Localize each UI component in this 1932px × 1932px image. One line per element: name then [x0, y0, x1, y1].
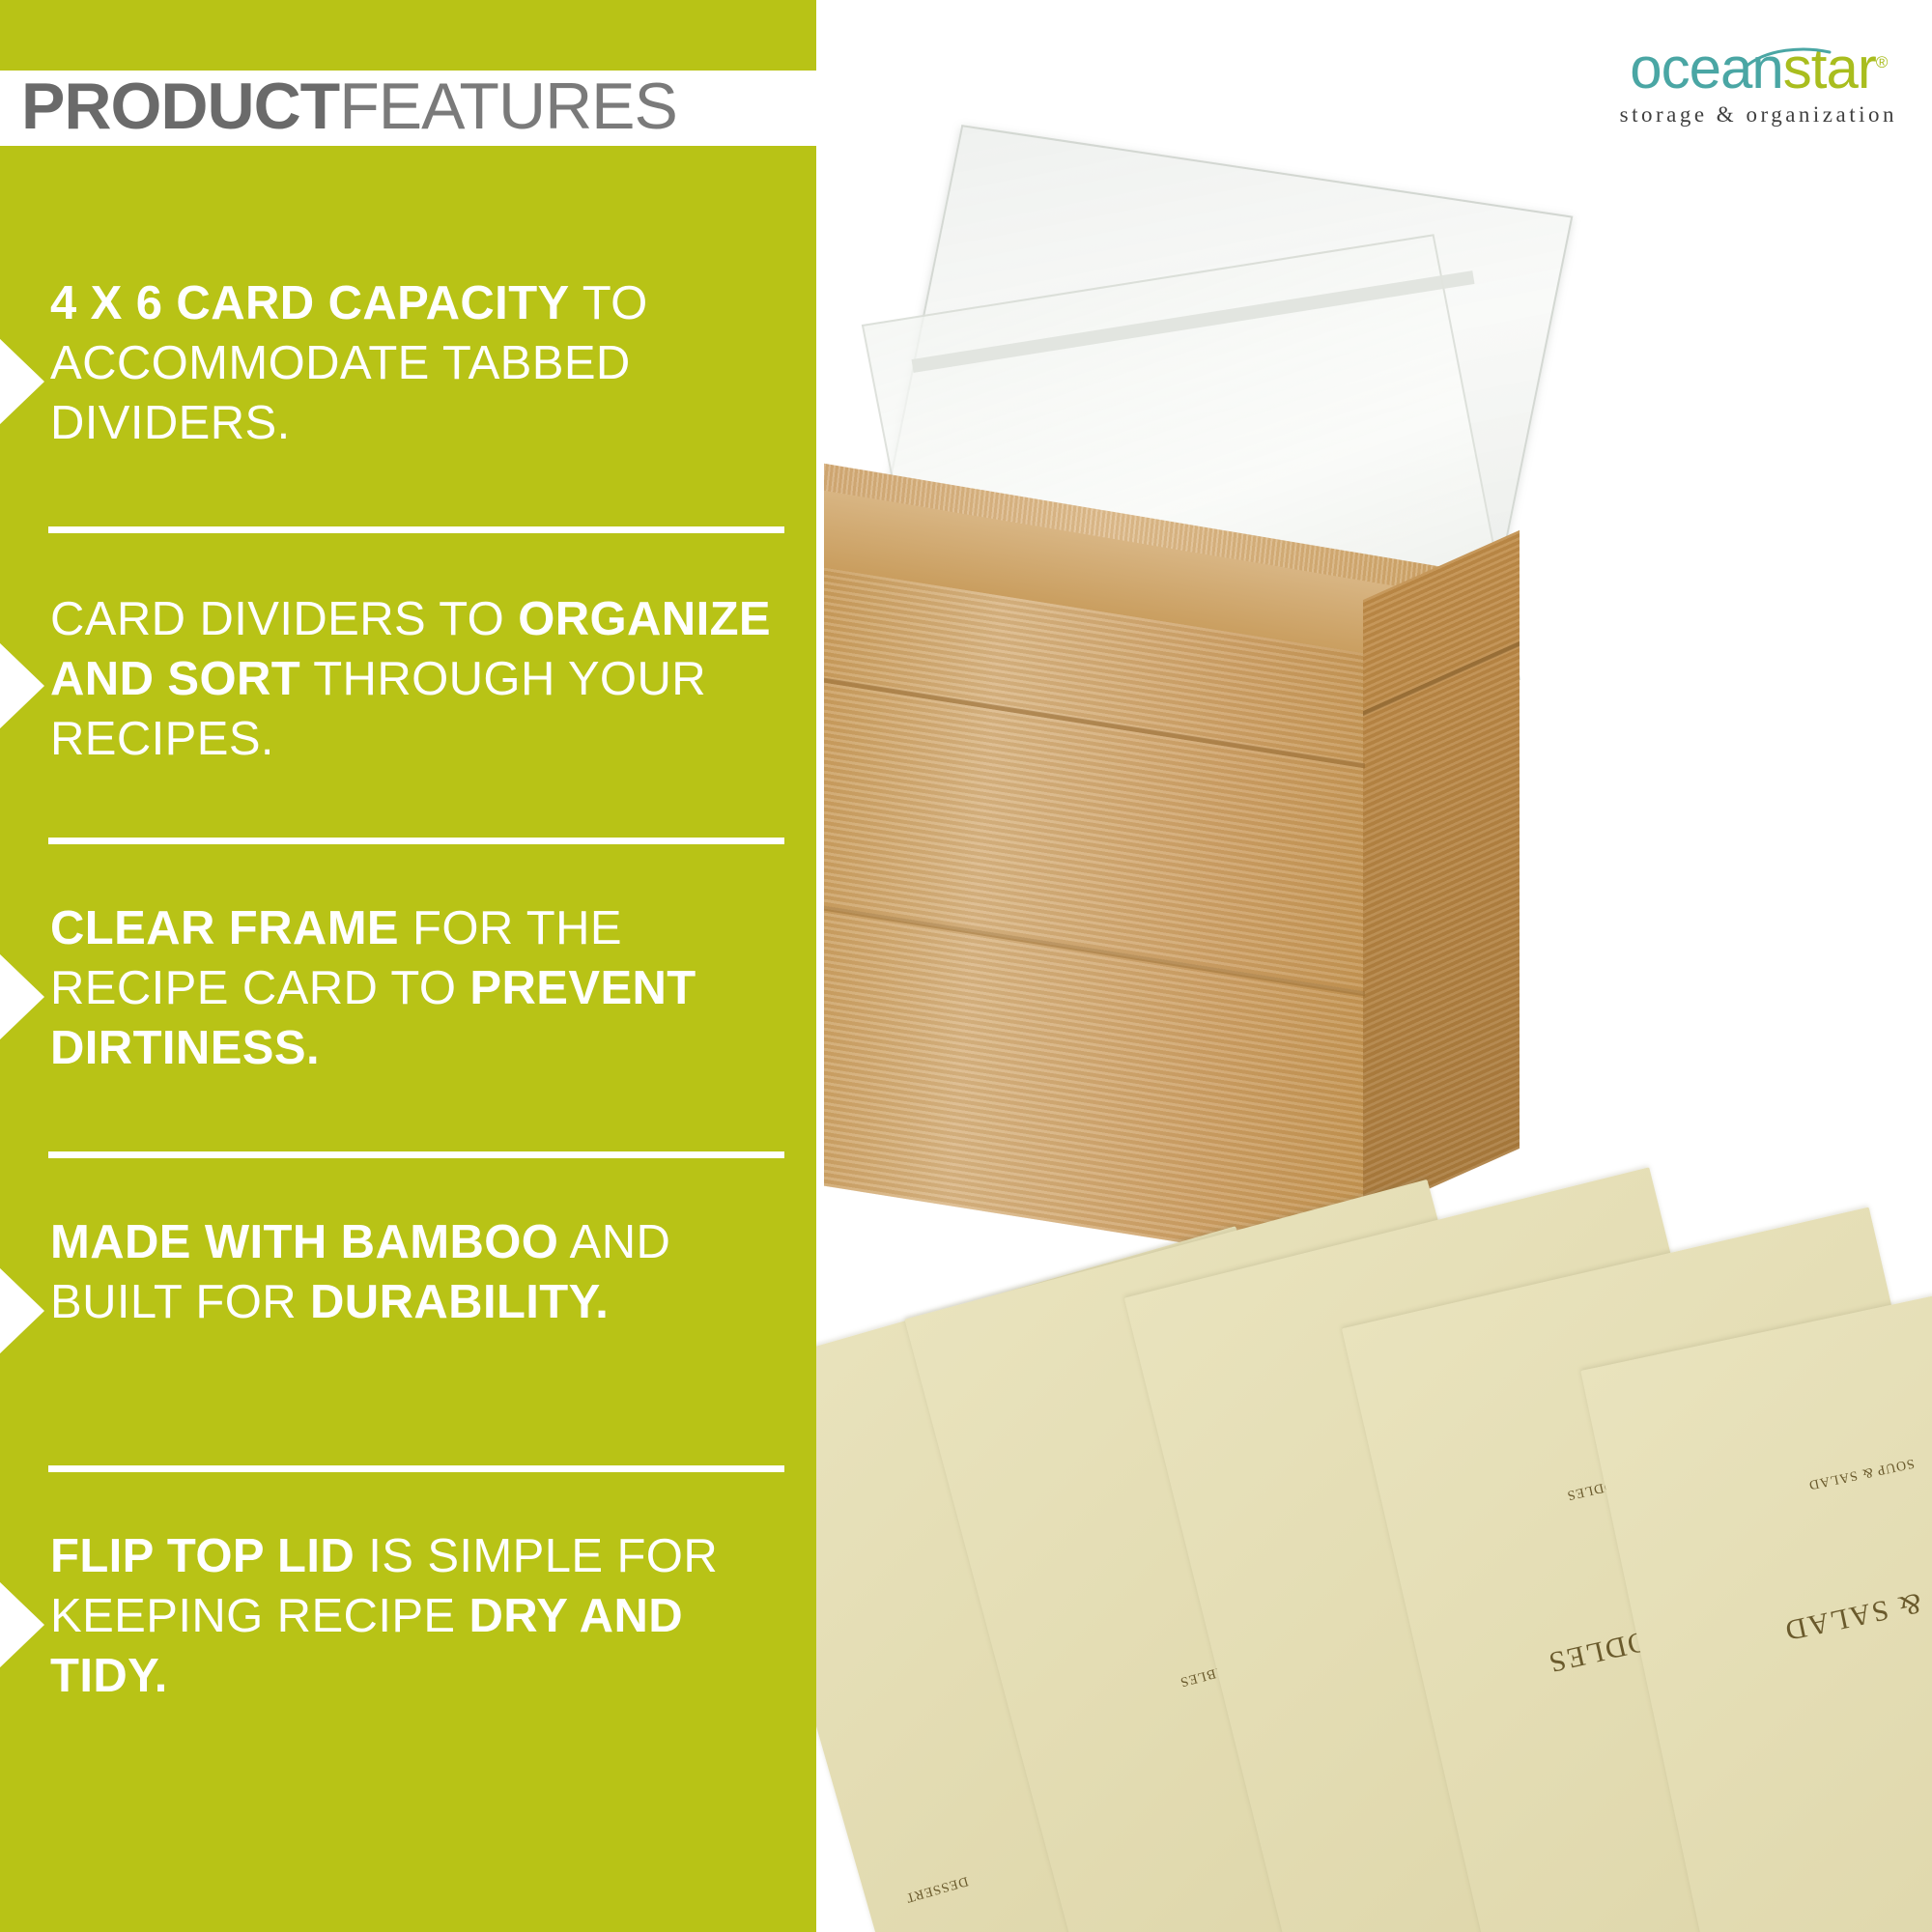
divider-card-sub-label: DESSERT — [903, 1872, 970, 1905]
feature-text-made-with-bamboo: MADE WITH BAMBOO AND BUILT FOR DURABILIT… — [50, 1212, 787, 1332]
divider-card-sub-label: SOUP & SALAD — [1806, 1455, 1916, 1492]
divider-card-fan: DESSERT DESSERT VEGETABLES VEGETA ENTREE… — [816, 1174, 1932, 1932]
feature-item-card-capacity: 4 X 6 CARD CAPACITY TO ACCOMMODATE TABBE… — [0, 237, 816, 526]
product-photo: DESSERT DESSERT VEGETABLES VEGETA ENTREE… — [816, 0, 1932, 1932]
page-title: PRODUCTFEATURES — [21, 62, 677, 151]
feature-divider-line — [48, 838, 784, 844]
feature-lead: CARD DIVIDERS TO — [50, 593, 518, 645]
arrow-marker-icon — [0, 952, 44, 1041]
feature-item-clear-frame: CLEAR FRAME FOR THE RECIPE CARD TO PREVE… — [0, 844, 816, 1151]
feature-text-clear-frame: CLEAR FRAME FOR THE RECIPE CARD TO PREVE… — [50, 898, 787, 1078]
arrow-marker-icon — [0, 1580, 44, 1669]
divider-card-main-label: P & SALAD — [1780, 1580, 1932, 1647]
feature-item-flip-top-lid: FLIP TOP LID IS SIMPLE FOR KEEPING RECIP… — [0, 1472, 816, 1762]
feature-text-flip-top-lid: FLIP TOP LID IS SIMPLE FOR KEEPING RECIP… — [50, 1526, 787, 1706]
arrow-marker-icon — [0, 1266, 44, 1355]
page-title-strong: PRODUCT — [21, 70, 339, 143]
feature-item-made-with-bamboo: MADE WITH BAMBOO AND BUILT FOR DURABILIT… — [0, 1158, 816, 1465]
feature-bold-lead: 4 X 6 CARD CAPACITY — [50, 277, 570, 329]
feature-item-card-dividers: CARD DIVIDERS TO ORGANIZE AND SORT THROU… — [0, 533, 816, 838]
feature-bold-lead: CLEAR FRAME — [50, 902, 399, 954]
feature-bold-end: DURABILITY. — [310, 1276, 609, 1328]
feature-bold-lead: FLIP TOP LID — [50, 1530, 355, 1582]
arrow-marker-icon — [0, 641, 44, 730]
feature-divider-line — [48, 526, 784, 533]
feature-divider-line — [48, 1465, 784, 1472]
feature-divider-line — [48, 1151, 784, 1158]
arrow-marker-icon — [0, 337, 44, 426]
product-features-infographic: PRODUCTFEATURES oceanstar® storage & org… — [0, 0, 1932, 1932]
feature-list: 4 X 6 CARD CAPACITY TO ACCOMMODATE TABBE… — [0, 237, 816, 1762]
bamboo-box-side — [1363, 530, 1520, 1218]
feature-bold-lead: MADE WITH BAMBOO — [50, 1216, 558, 1268]
feature-text-card-capacity: 4 X 6 CARD CAPACITY TO ACCOMMODATE TABBE… — [50, 273, 787, 453]
feature-text-card-dividers: CARD DIVIDERS TO ORGANIZE AND SORT THROU… — [50, 589, 787, 769]
page-title-light: FEATURES — [339, 70, 677, 143]
